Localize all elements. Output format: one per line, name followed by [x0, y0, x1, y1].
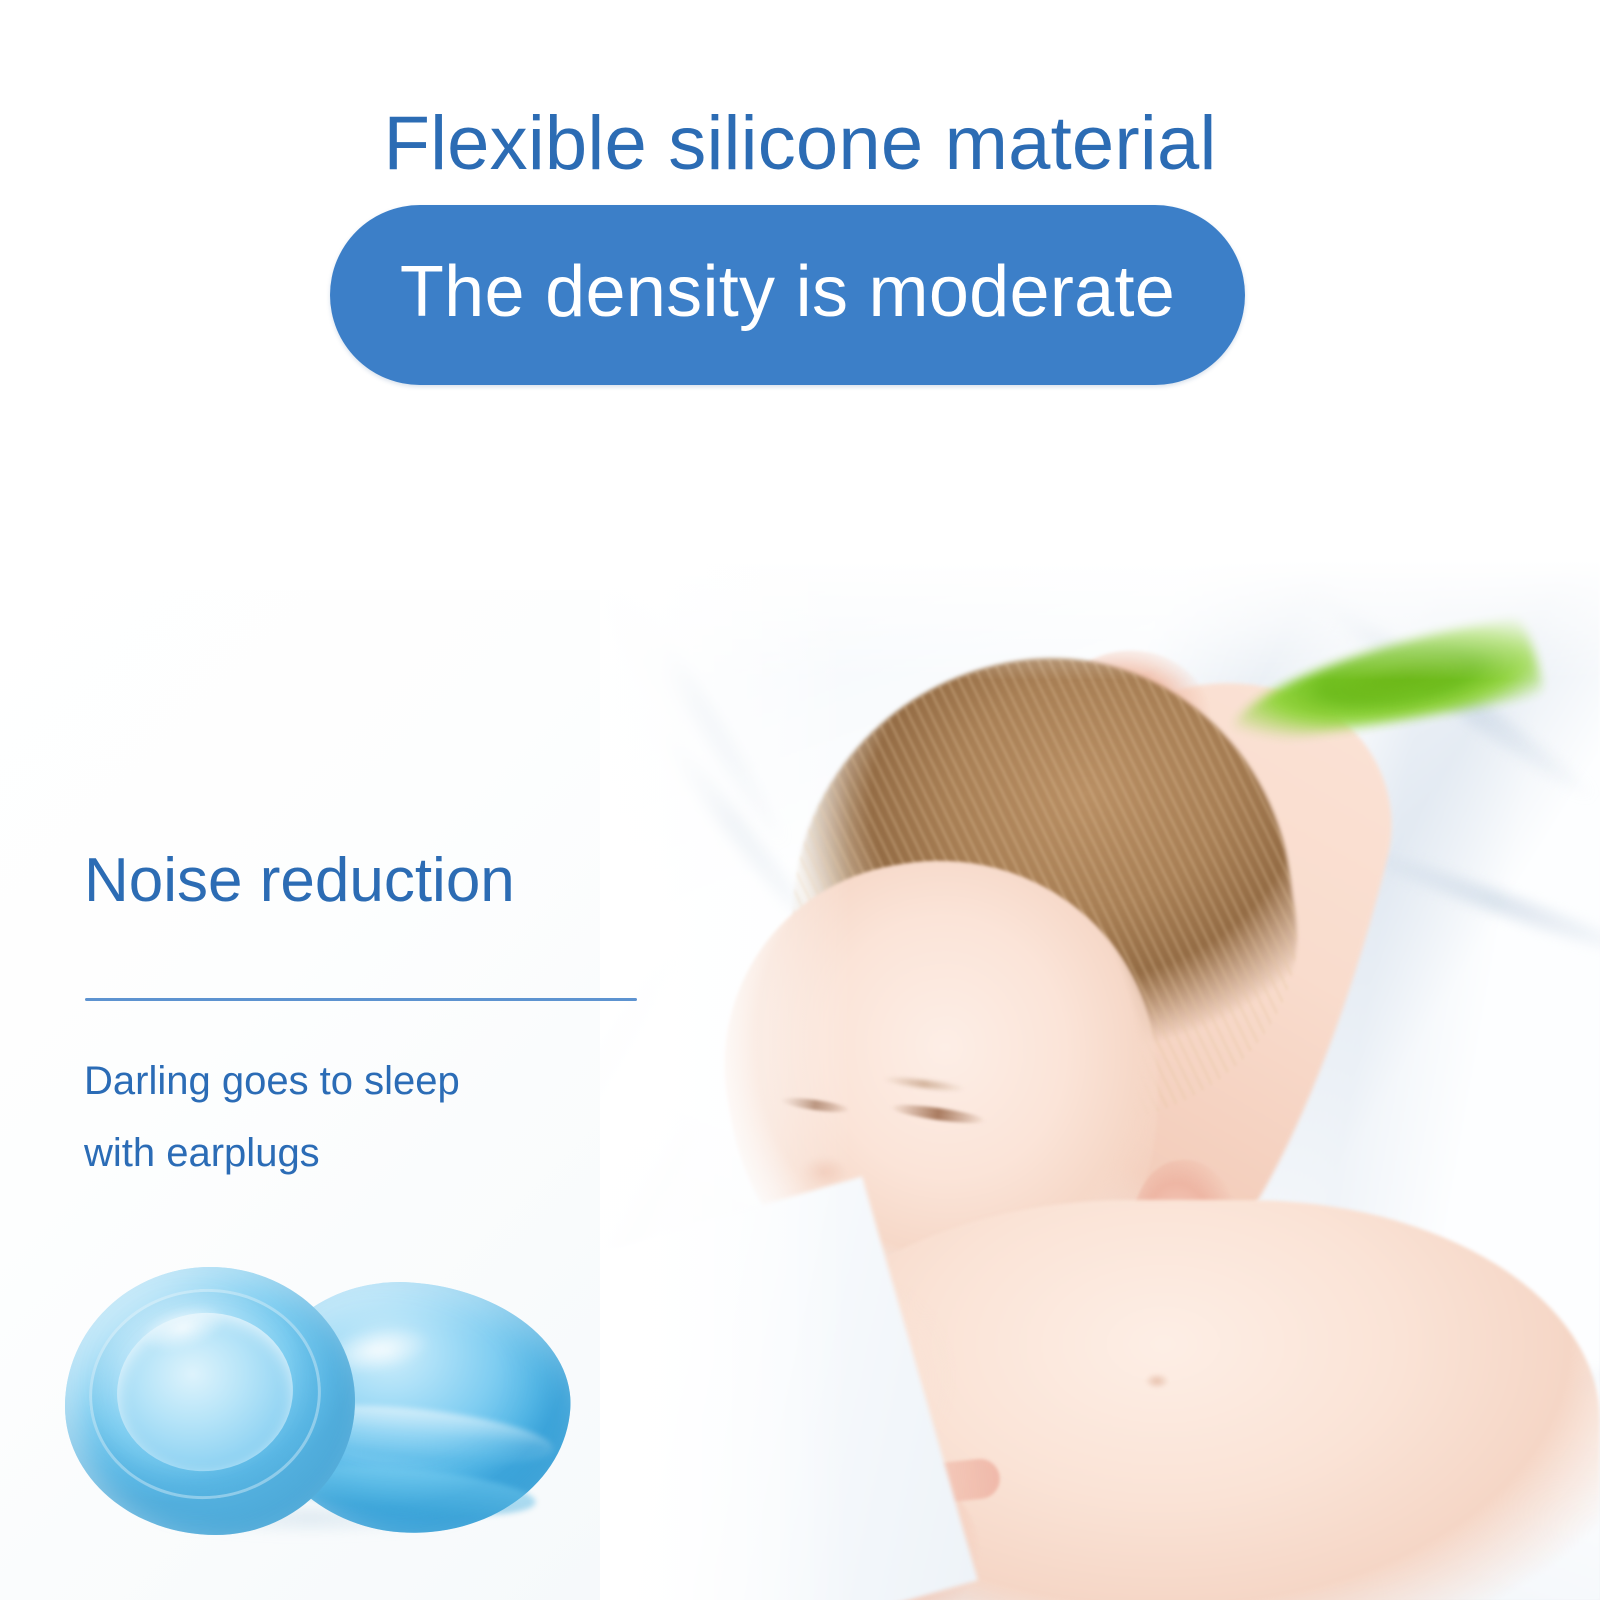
feature-description: Darling goes to sleep with earplugs — [84, 1045, 554, 1189]
feature-description-line-1: Darling goes to sleep — [84, 1045, 554, 1117]
feature-description-line-2: with earplugs — [84, 1117, 554, 1189]
feature-text-card: Noise reduction Darling goes to sleep wi… — [0, 590, 600, 1600]
feature-title: Noise reduction — [84, 845, 515, 917]
product-feature-page: Flexible silicone material The density i… — [0, 0, 1600, 1600]
density-badge: The density is moderate — [330, 205, 1245, 385]
earplug-left — [65, 1267, 355, 1535]
baby-photo — [430, 560, 1600, 1600]
earplugs-image — [55, 1245, 585, 1555]
banner-section: Flexible silicone material The density i… — [0, 0, 1600, 560]
density-badge-label: The density is moderate — [330, 205, 1245, 385]
feature-divider — [85, 998, 637, 1001]
page-title: Flexible silicone material — [0, 96, 1600, 192]
feature-section: Noise reduction Darling goes to sleep wi… — [0, 560, 1600, 1600]
baby-torso-detail — [1140, 1370, 1174, 1392]
